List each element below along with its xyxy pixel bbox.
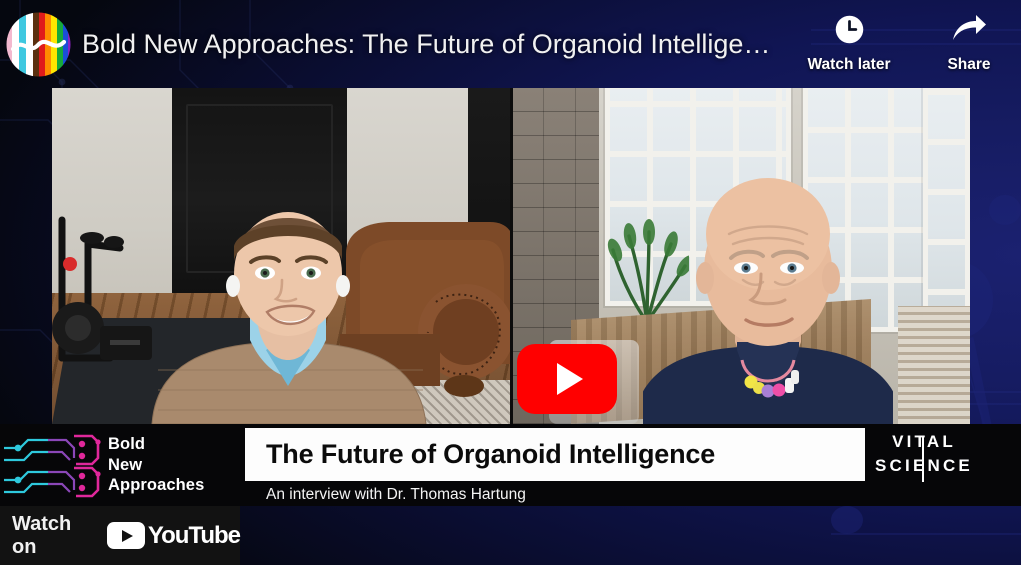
right-speaker-person — [643, 174, 893, 424]
watch-on-youtube-button[interactable]: Watch on YouTube — [0, 506, 240, 565]
brand-line-3: Approaches — [108, 475, 204, 496]
left-speaker-video-pane — [52, 88, 511, 424]
bold-new-approaches-logo: Bold New Approaches — [0, 424, 240, 506]
watch-later-label: Watch later — [794, 56, 904, 74]
youtube-play-triangle — [122, 530, 133, 542]
share-label: Share — [913, 56, 1021, 74]
video-thumbnail[interactable] — [52, 88, 970, 424]
left-speaker-person — [138, 200, 438, 424]
lower-third-overlay: Bold New Approaches The Future of Organo… — [0, 424, 1021, 506]
share-arrow-icon — [913, 10, 1021, 48]
youtube-logo-icon: YouTube — [107, 522, 240, 550]
vital-science-logo: VITAL SCIENCE — [872, 430, 976, 494]
player-header: Bold New Approaches: The Future of Organ… — [0, 0, 1021, 88]
clock-icon — [794, 10, 904, 48]
video-split-divider — [510, 88, 513, 424]
youtube-badge — [107, 522, 145, 549]
brand-line-2: New — [108, 455, 204, 476]
youtube-embed-card: Bold New Approaches: The Future of Organ… — [0, 0, 1021, 565]
share-button[interactable]: Share — [913, 10, 1021, 74]
youtube-wordmark: YouTube — [148, 522, 240, 550]
stacked-papers — [898, 306, 970, 424]
play-triangle-icon — [557, 363, 583, 395]
video-title[interactable]: Bold New Approaches: The Future of Organ… — [82, 22, 782, 66]
watch-on-label: Watch on — [12, 513, 87, 559]
episode-title: The Future of Organoid Intelligence — [266, 439, 715, 470]
circuit-board-graphic — [4, 430, 112, 502]
play-button[interactable] — [517, 344, 617, 414]
episode-subtitle: An interview with Dr. Thomas Hartung — [266, 486, 526, 504]
episode-title-bar: The Future of Organoid Intelligence — [245, 428, 865, 481]
vital-science-divider — [922, 436, 924, 482]
watch-later-button[interactable]: Watch later — [794, 10, 904, 74]
producer-line-2: SCIENCE — [872, 454, 976, 478]
brand-line-1: Bold — [108, 434, 204, 455]
producer-line-1: VITAL — [872, 430, 976, 454]
channel-avatar[interactable] — [5, 11, 72, 78]
